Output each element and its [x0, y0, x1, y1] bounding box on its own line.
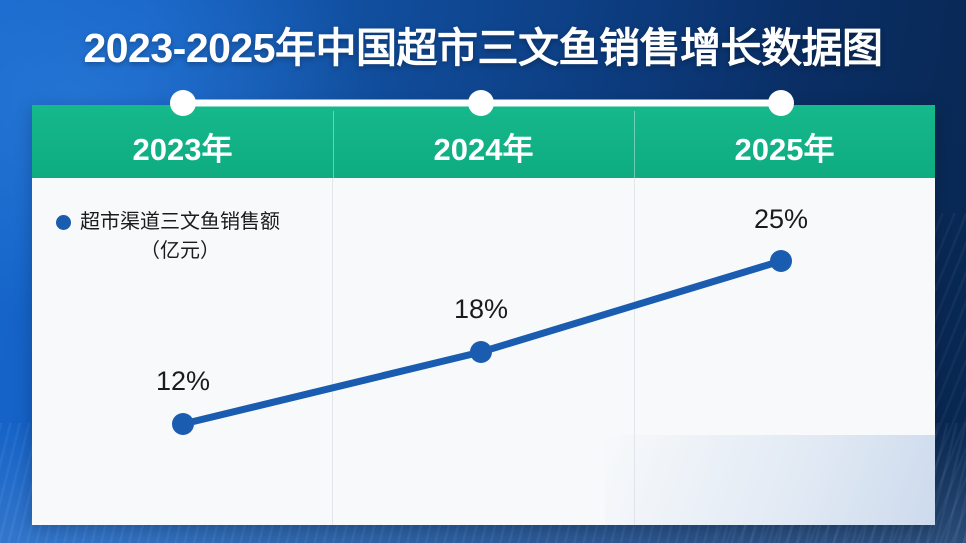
- data-label-2023: 12%: [156, 366, 210, 397]
- line-chart: [0, 0, 966, 543]
- data-label-2025: 25%: [754, 204, 808, 235]
- chart-point-2025[interactable]: [770, 250, 792, 272]
- data-label-2024: 18%: [454, 294, 508, 325]
- chart-point-2024[interactable]: [470, 341, 492, 363]
- chart-point-2023[interactable]: [172, 413, 194, 435]
